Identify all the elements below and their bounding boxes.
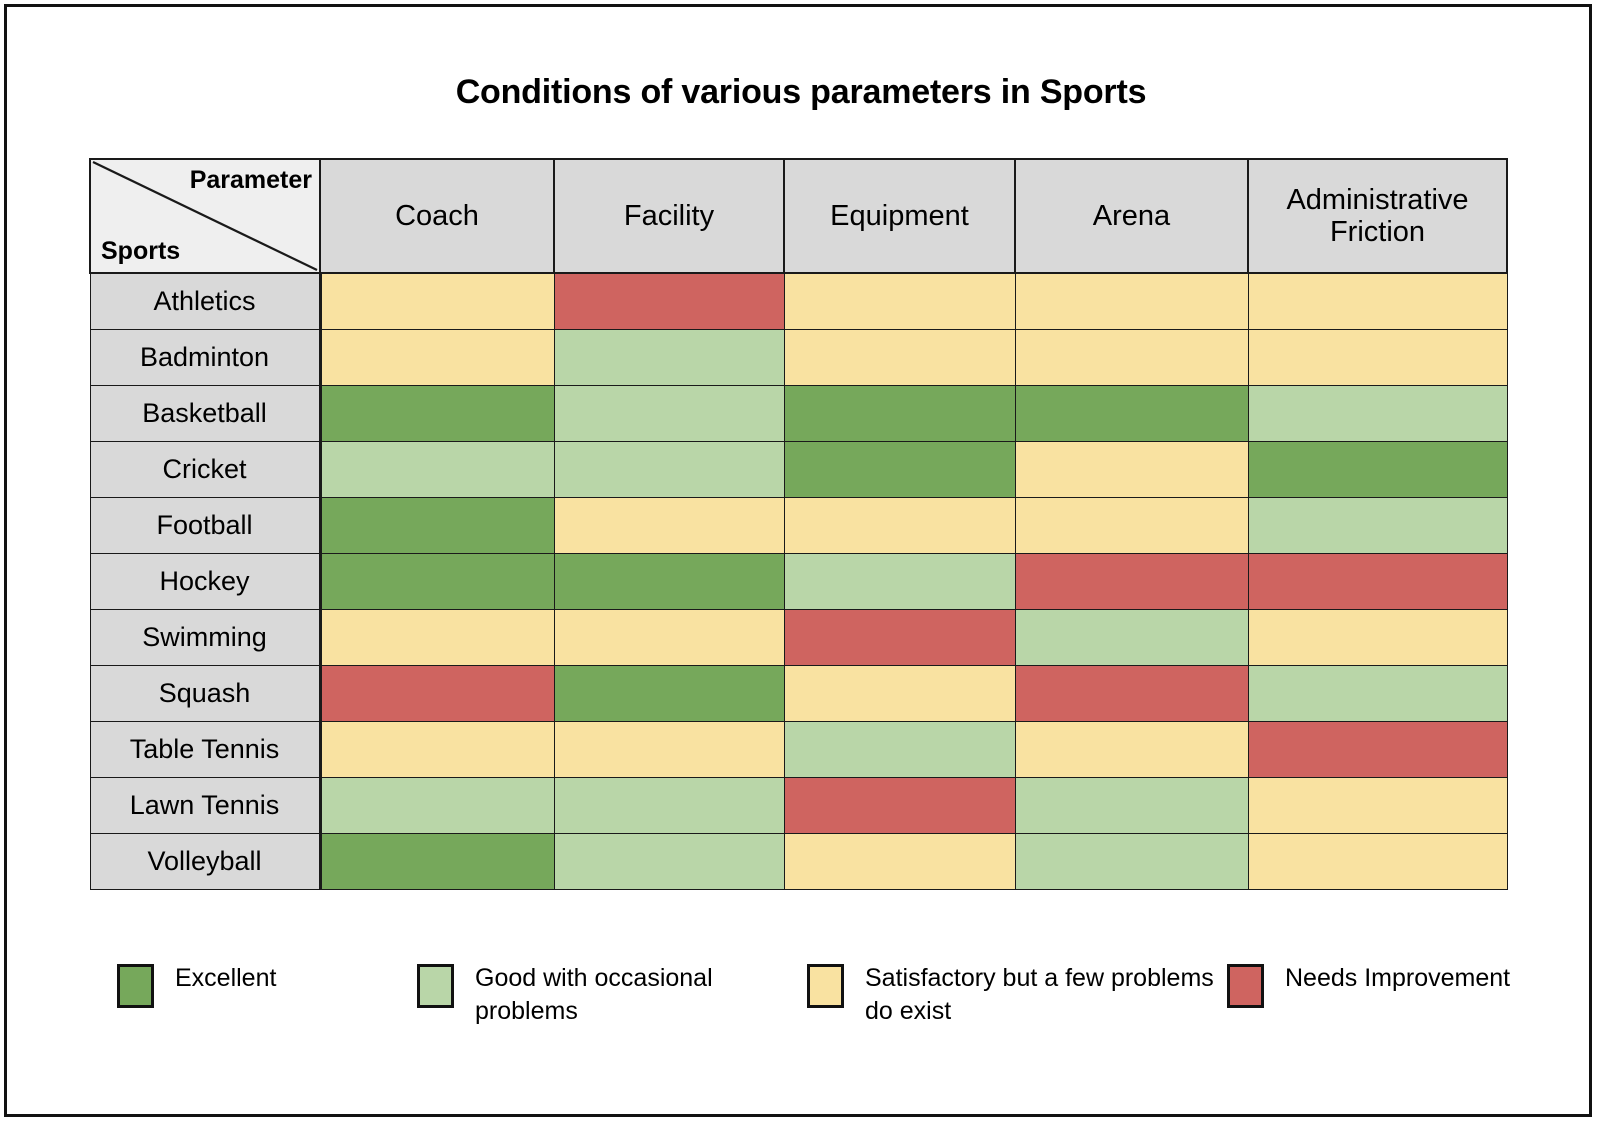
table-row: Badminton xyxy=(90,330,1507,386)
matrix-cell xyxy=(1015,834,1248,890)
matrix-cell xyxy=(1015,498,1248,554)
matrix-cell xyxy=(1248,778,1507,834)
legend-label: Satisfactory but a few problems do exist xyxy=(865,962,1227,1027)
matrix-cell xyxy=(554,386,784,442)
matrix-cell xyxy=(1015,273,1248,330)
matrix-cell xyxy=(320,498,554,554)
matrix-cell xyxy=(320,386,554,442)
table-row: Basketball xyxy=(90,386,1507,442)
matrix-cell xyxy=(1015,442,1248,498)
matrix-cell xyxy=(784,273,1015,330)
page-frame: Conditions of various parameters in Spor… xyxy=(4,4,1592,1117)
legend-item-good: Good with occasional problems xyxy=(417,962,807,1027)
table-row: Football xyxy=(90,498,1507,554)
matrix-cell xyxy=(554,666,784,722)
legend-item-excellent: Excellent xyxy=(117,962,417,1008)
matrix-cell xyxy=(320,273,554,330)
column-header-administrative-friction: Administrative Friction xyxy=(1248,159,1507,273)
matrix-cell xyxy=(784,330,1015,386)
row-header-cricket: Cricket xyxy=(90,442,320,498)
column-axis-label: Parameter xyxy=(190,166,312,195)
matrix-cell xyxy=(784,554,1015,610)
matrix-cell xyxy=(554,834,784,890)
legend-label: Good with occasional problems xyxy=(475,962,807,1027)
table-body: AthleticsBadmintonBasketballCricketFootb… xyxy=(90,273,1507,890)
legend-swatch-needs-improvement xyxy=(1227,964,1264,1008)
matrix-cell xyxy=(320,722,554,778)
legend-label: Needs Improvement xyxy=(1285,962,1510,995)
row-header-squash: Squash xyxy=(90,666,320,722)
matrix-cell xyxy=(1248,386,1507,442)
row-header-table-tennis: Table Tennis xyxy=(90,722,320,778)
column-header-arena: Arena xyxy=(1015,159,1248,273)
matrix-cell xyxy=(554,330,784,386)
matrix-cell xyxy=(784,386,1015,442)
matrix-cell xyxy=(1248,610,1507,666)
matrix-cell xyxy=(784,610,1015,666)
matrix-cell xyxy=(1015,666,1248,722)
column-header-coach: Coach xyxy=(320,159,554,273)
matrix-cell xyxy=(1248,273,1507,330)
matrix-cell xyxy=(1015,330,1248,386)
legend-item-satisfactory: Satisfactory but a few problems do exist xyxy=(807,962,1227,1027)
matrix-cell xyxy=(1248,834,1507,890)
matrix-cell xyxy=(784,498,1015,554)
legend-swatch-excellent xyxy=(117,964,154,1008)
matrix-cell xyxy=(320,666,554,722)
matrix-cell xyxy=(554,722,784,778)
matrix-cell xyxy=(320,330,554,386)
legend-label: Excellent xyxy=(175,962,276,995)
matrix-cell xyxy=(1248,330,1507,386)
table-row: Swimming xyxy=(90,610,1507,666)
legend-swatch-good xyxy=(417,964,454,1008)
matrix-cell xyxy=(554,554,784,610)
row-header-hockey: Hockey xyxy=(90,554,320,610)
legend: ExcellentGood with occasional problemsSa… xyxy=(117,962,1517,1027)
matrix-cell xyxy=(784,442,1015,498)
matrix-cell xyxy=(1248,442,1507,498)
legend-swatch-satisfactory xyxy=(807,964,844,1008)
corner-axis-cell: Parameter Sports xyxy=(90,159,320,273)
column-header-facility: Facility xyxy=(554,159,784,273)
table-row: Hockey xyxy=(90,554,1507,610)
table-row: Athletics xyxy=(90,273,1507,330)
matrix-cell xyxy=(554,778,784,834)
matrix-cell xyxy=(320,554,554,610)
row-header-athletics: Athletics xyxy=(90,273,320,330)
matrix-cell xyxy=(784,722,1015,778)
row-header-volleyball: Volleyball xyxy=(90,834,320,890)
table-row: Volleyball xyxy=(90,834,1507,890)
matrix-cell xyxy=(320,778,554,834)
table-row: Cricket xyxy=(90,442,1507,498)
matrix-cell xyxy=(784,666,1015,722)
matrix-cell xyxy=(784,834,1015,890)
matrix-cell xyxy=(1015,386,1248,442)
matrix-cell xyxy=(1015,778,1248,834)
matrix-cell xyxy=(320,442,554,498)
table-header-row: Parameter Sports Coach Facility Equipmen… xyxy=(90,159,1507,273)
matrix-cell xyxy=(784,778,1015,834)
table-row: Squash xyxy=(90,666,1507,722)
matrix-cell xyxy=(1248,722,1507,778)
matrix-cell xyxy=(1015,610,1248,666)
table-row: Table Tennis xyxy=(90,722,1507,778)
matrix-cell xyxy=(320,834,554,890)
matrix-cell xyxy=(1015,554,1248,610)
matrix-cell xyxy=(554,273,784,330)
row-header-basketball: Basketball xyxy=(90,386,320,442)
matrix-cell xyxy=(1248,666,1507,722)
row-header-badminton: Badminton xyxy=(90,330,320,386)
matrix-cell xyxy=(1015,722,1248,778)
matrix-cell xyxy=(554,610,784,666)
legend-item-needs-improvement: Needs Improvement xyxy=(1227,962,1517,1008)
conditions-matrix-table: Parameter Sports Coach Facility Equipmen… xyxy=(89,158,1508,890)
matrix-cell xyxy=(320,610,554,666)
page-title: Conditions of various parameters in Spor… xyxy=(7,73,1595,112)
row-header-football: Football xyxy=(90,498,320,554)
column-header-equipment: Equipment xyxy=(784,159,1015,273)
row-axis-label: Sports xyxy=(101,237,180,266)
matrix-cell xyxy=(1248,498,1507,554)
row-header-swimming: Swimming xyxy=(90,610,320,666)
matrix-cell xyxy=(1248,554,1507,610)
row-header-lawn-tennis: Lawn Tennis xyxy=(90,778,320,834)
table-row: Lawn Tennis xyxy=(90,778,1507,834)
matrix-cell xyxy=(554,442,784,498)
matrix-cell xyxy=(554,498,784,554)
